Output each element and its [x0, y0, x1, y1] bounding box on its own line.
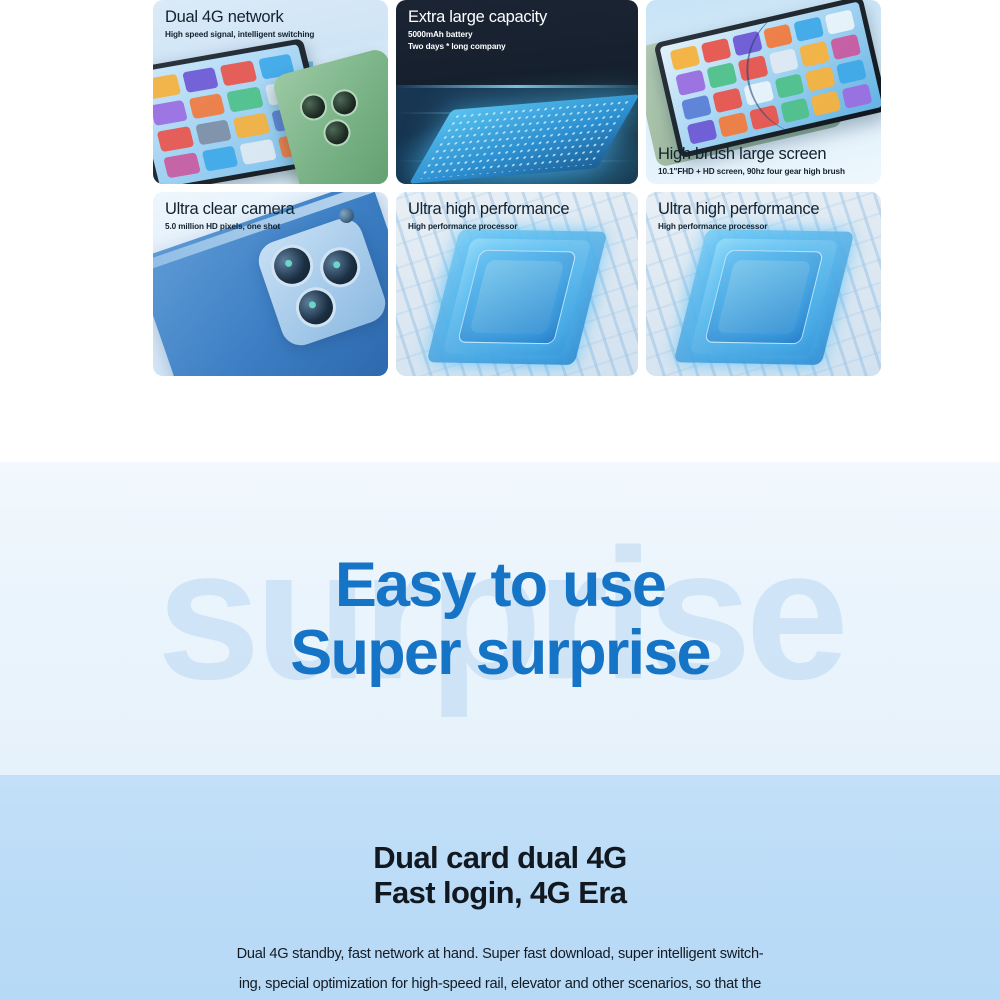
surprise-banner: surprise Easy to use Super surprise	[0, 462, 1000, 775]
card-subtitle: High speed signal, intelligent switching	[165, 30, 378, 41]
panel-heading-line-2: Fast login, 4G Era	[0, 876, 1000, 911]
banner-headline-line-2: Super surprise	[0, 619, 1000, 687]
card-subtitle-line-2: Two days * long company	[408, 42, 628, 53]
panel-heading: Dual card dual 4G Fast login, 4G Era	[0, 775, 1000, 910]
card-subtitle: 5.0 million HD pixels, one shot	[165, 222, 378, 233]
product-feature-page: 4 G	[0, 0, 1000, 1000]
camera-lens-icon	[265, 239, 318, 292]
card-title: Ultra clear camera	[165, 200, 378, 219]
feature-card-grid: 4 G	[153, 0, 873, 380]
card-title: High brush large screen	[658, 145, 871, 164]
dual-card-blue-panel: Dual card dual 4G Fast login, 4G Era Dua…	[0, 775, 1000, 1000]
card-title: Dual 4G network	[165, 8, 378, 27]
card-copy: Extra large capacity 5000mAh battery Two…	[408, 8, 628, 53]
feature-card-high-brush-large-screen[interactable]: High brush large screen 10.1"FHD + HD sc…	[646, 0, 881, 184]
panel-heading-line-1: Dual card dual 4G	[0, 841, 1000, 876]
card-subtitle-line-1: 5000mAh battery	[408, 30, 628, 41]
processor-chip-illustration	[440, 228, 595, 365]
camera-module	[297, 81, 373, 157]
card-title: Extra large capacity	[408, 8, 628, 27]
banner-headline-line-1: Easy to use	[0, 550, 1000, 618]
card-title: Ultra high performance	[408, 200, 628, 219]
camera-lens-icon	[291, 282, 342, 333]
feature-row-bottom: Ultra clear camera 5.0 million HD pixels…	[153, 192, 873, 376]
light-streak	[396, 85, 638, 88]
card-copy: Ultra high performance High performance …	[658, 200, 871, 233]
camera-lens-icon	[297, 90, 330, 123]
panel-body-text: Dual 4G standby, fast network at hand. S…	[175, 940, 825, 1000]
panel-body-line-1: Dual 4G standby, fast network at hand. S…	[175, 940, 825, 970]
feature-card-ultra-high-performance-1[interactable]: Ultra high performance High performance …	[396, 192, 638, 376]
feature-card-dual-4g-network[interactable]: 4 G	[153, 0, 388, 184]
card-copy: Ultra clear camera 5.0 million HD pixels…	[165, 200, 378, 233]
feature-row-top: 4 G	[153, 0, 873, 184]
camera-lens-icon	[320, 116, 353, 149]
card-copy: Dual 4G network High speed signal, intel…	[165, 8, 378, 41]
card-subtitle: 5000mAh battery Two days * long company	[408, 30, 628, 52]
feature-card-ultra-high-performance-2[interactable]: Ultra high performance High performance …	[646, 192, 881, 376]
panel-body-line-2: ing, special optimization for high-speed…	[175, 970, 825, 1000]
card-subtitle: High performance processor	[408, 222, 628, 233]
card-subtitle: High performance processor	[658, 222, 871, 233]
camera-lens-icon	[328, 86, 361, 119]
banner-headline: Easy to use Super surprise	[0, 550, 1000, 686]
card-copy: Ultra high performance High performance …	[408, 200, 628, 233]
feature-card-ultra-clear-camera[interactable]: Ultra clear camera 5.0 million HD pixels…	[153, 192, 388, 376]
feature-card-extra-large-capacity[interactable]: Extra large capacity 5000mAh battery Two…	[396, 0, 638, 184]
camera-lens-icon	[315, 242, 366, 293]
card-title: Ultra high performance	[658, 200, 871, 219]
processor-chip-illustration	[686, 228, 841, 365]
card-copy: High brush large screen 10.1"FHD + HD sc…	[658, 145, 871, 178]
card-subtitle: 10.1"FHD + HD screen, 90hz four gear hig…	[658, 167, 871, 178]
